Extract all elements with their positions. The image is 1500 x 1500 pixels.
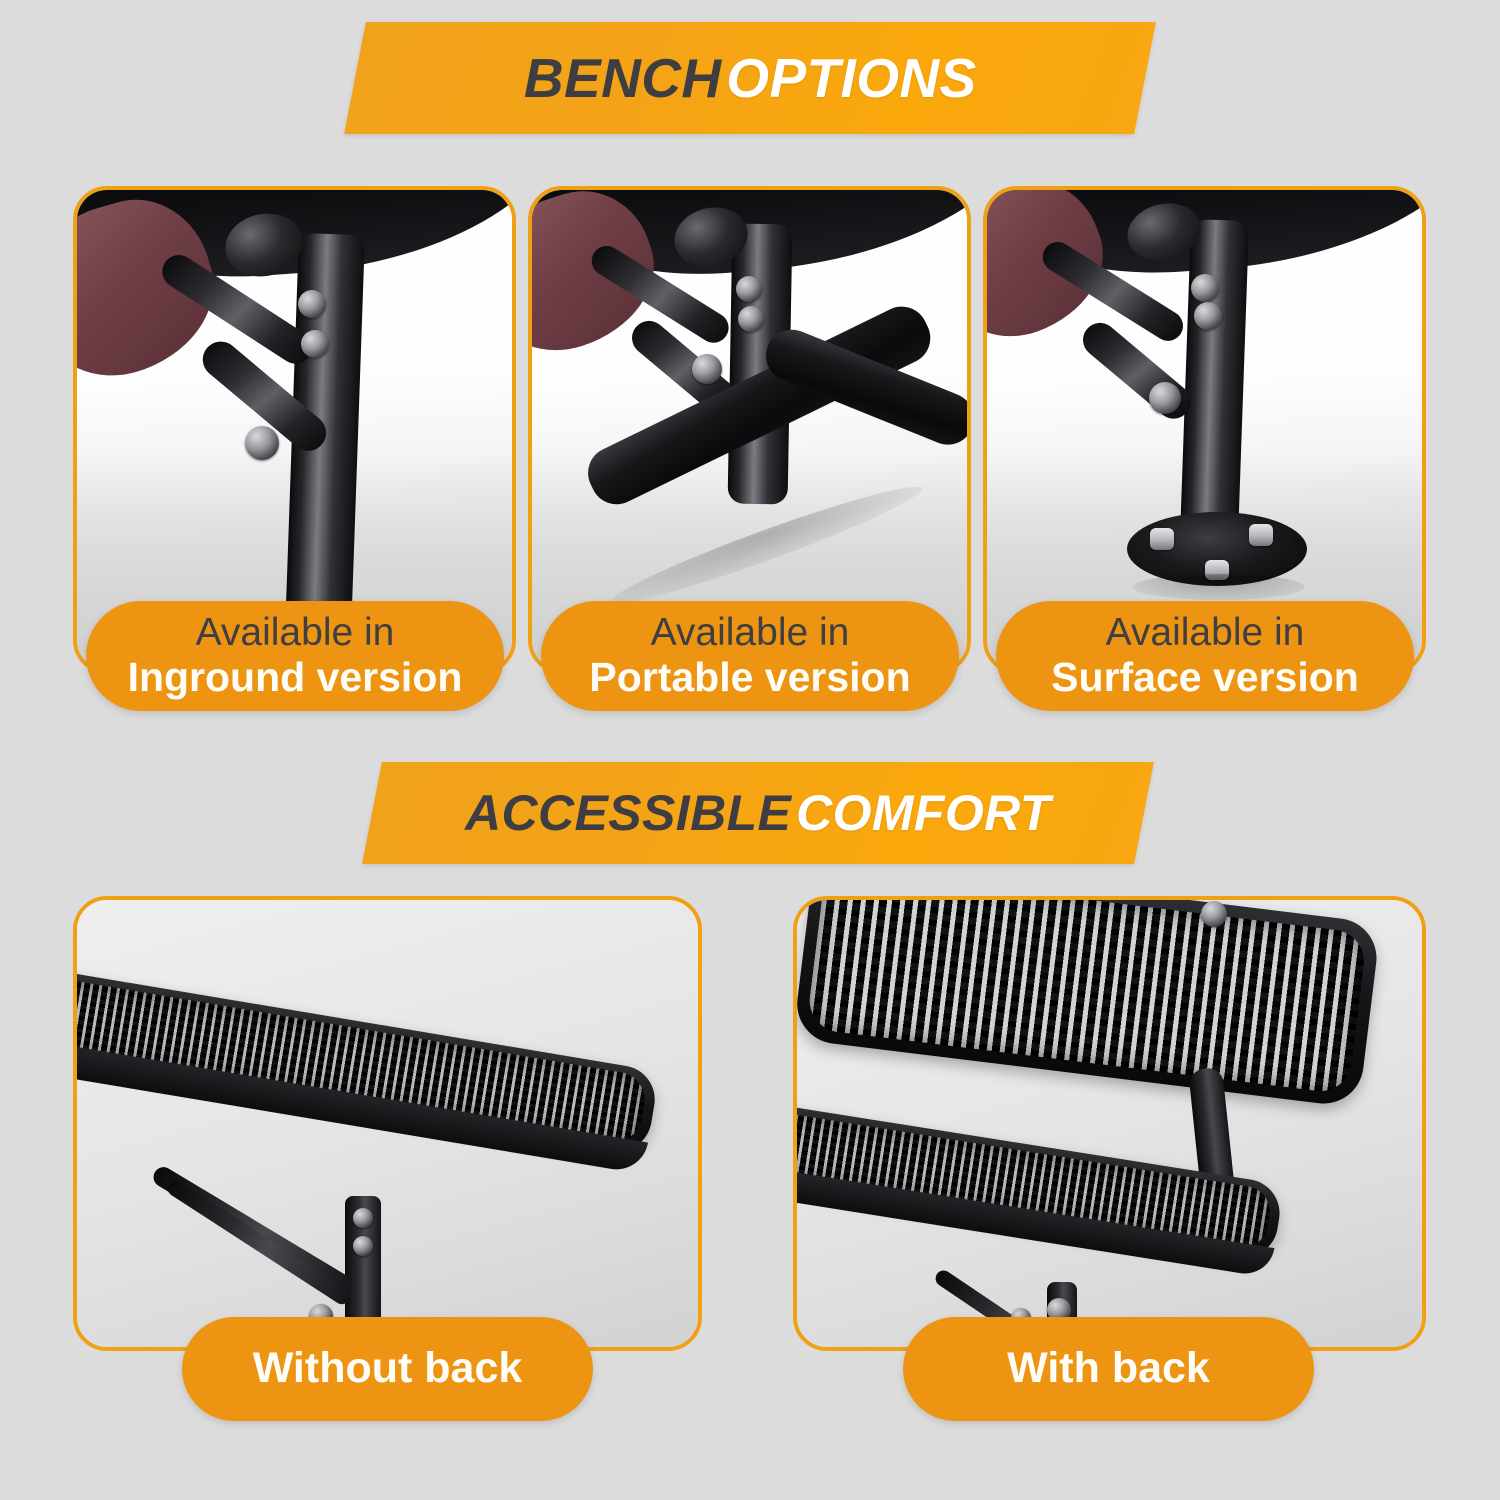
- card-without-back[interactable]: [73, 896, 702, 1351]
- pill-line-1: Available in: [651, 611, 850, 655]
- photo-surface-leg: [987, 190, 1422, 670]
- label-pill-without-back: Without back: [182, 1317, 593, 1421]
- photo-bench-with-back: [797, 900, 1422, 1347]
- infographic-page: BENCH OPTIONS Available in Inground vers…: [0, 0, 1500, 1500]
- label-pill-with-back: With back: [903, 1317, 1314, 1421]
- post-bolt-upper: [736, 276, 762, 302]
- label-pill-surface: Available in Surface version: [996, 601, 1414, 711]
- banner-word-dark: ACCESSIBLE: [465, 788, 791, 838]
- label-pill-inground: Available in Inground version: [86, 601, 504, 711]
- banner-word-light: COMFORT: [796, 788, 1051, 838]
- anchor-bolt-right: [1249, 524, 1273, 546]
- banner-text: ACCESSIBLE COMFORT: [465, 788, 1051, 838]
- section-banner-accessible-comfort: ACCESSIBLE COMFORT: [362, 762, 1154, 864]
- leg-bolt-lower: [353, 1236, 373, 1256]
- pill-label: Without back: [253, 1345, 523, 1392]
- section-banner-bench-options: BENCH OPTIONS: [344, 22, 1156, 134]
- card-with-back[interactable]: [793, 896, 1426, 1351]
- banner-word-dark: BENCH: [524, 51, 722, 106]
- post-bolt-upper: [1191, 274, 1219, 302]
- pill-line-2: Surface version: [1051, 655, 1359, 701]
- anchor-bolt-left: [1150, 528, 1174, 550]
- leg-bolt-upper: [353, 1208, 373, 1228]
- strut-pivot-bolt: [1149, 382, 1181, 414]
- banner-text: BENCH OPTIONS: [524, 51, 977, 106]
- post-bolt-lower: [738, 306, 764, 332]
- pill-line-1: Available in: [196, 611, 395, 655]
- photo-bench-without-back: [77, 900, 698, 1347]
- banner-word-light: OPTIONS: [726, 51, 976, 106]
- post-bolt-lower: [1194, 302, 1222, 330]
- label-pill-portable: Available in Portable version: [541, 601, 959, 711]
- pill-label: With back: [1007, 1345, 1210, 1392]
- post-bolt-upper: [298, 290, 326, 318]
- baseplate-shadow: [1133, 574, 1305, 600]
- pill-line-2: Inground version: [128, 655, 463, 701]
- pill-line-2: Portable version: [589, 655, 910, 701]
- post-bolt-lower: [301, 330, 329, 358]
- photo-inground-leg: [77, 190, 512, 670]
- strut-pivot-bolt: [692, 354, 722, 384]
- pill-line-1: Available in: [1106, 611, 1305, 655]
- photo-portable-leg: [532, 190, 967, 670]
- strut-pivot-bolt: [245, 426, 279, 460]
